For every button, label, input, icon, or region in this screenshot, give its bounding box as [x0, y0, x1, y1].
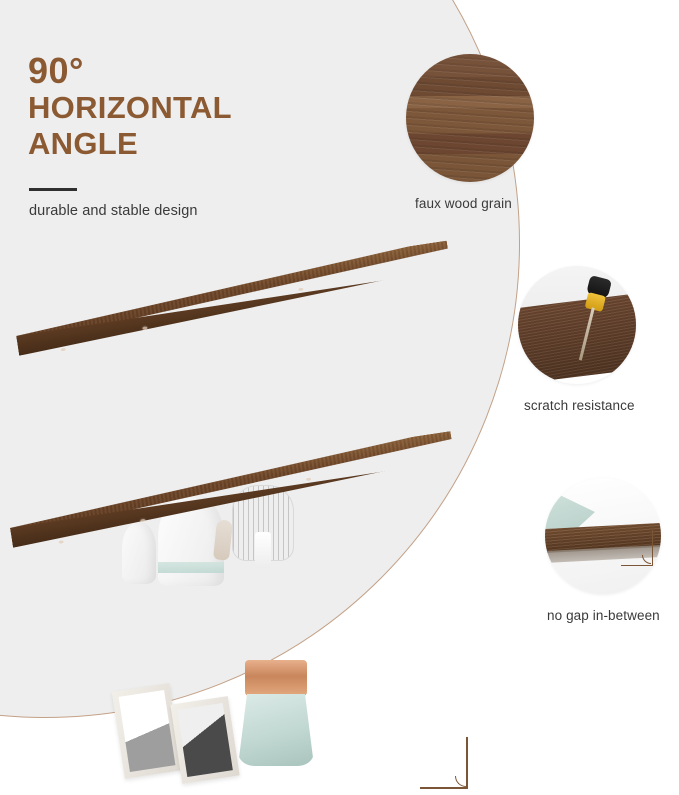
upper-shelf-front-edge — [16, 270, 454, 356]
shelf-screw — [306, 477, 311, 481]
frame-photo — [119, 690, 176, 772]
jug-mint-band — [158, 562, 224, 573]
picture-frame — [170, 696, 239, 784]
screwdriver-grip — [585, 292, 606, 312]
pillar-candle — [255, 532, 271, 568]
callout-no-gap-in-between: no gap in-between — [545, 478, 661, 594]
vase-copper-top — [245, 660, 307, 696]
angle-horizontal-line — [420, 787, 468, 789]
wood-grain-swatch-image — [406, 54, 534, 182]
shelf-screw — [61, 348, 66, 352]
screwdriver-shaft — [579, 307, 595, 360]
headline-line-1: HORIZONTAL — [28, 90, 328, 126]
product-scene — [0, 232, 492, 632]
infographic-canvas: 90° HORIZONTAL ANGLE durable and stable … — [0, 0, 679, 705]
callout-label-scratch-resistance: scratch resistance — [524, 398, 635, 413]
callout-label-no-gap-in-between: no gap in-between — [547, 608, 660, 623]
callout-label-faux-wood-grain: faux wood grain — [415, 196, 512, 211]
angle-horizontal-line — [621, 565, 653, 566]
headline-degree: 90° — [28, 52, 328, 90]
headline-line-2: ANGLE — [28, 126, 328, 162]
shelf-screw — [58, 540, 63, 544]
upper-shelf — [12, 241, 456, 364]
angle-vertical-line — [652, 530, 653, 566]
wood-grain-texture — [406, 54, 534, 182]
right-angle-marker-icon — [420, 737, 472, 795]
headline-block: 90° HORIZONTAL ANGLE — [28, 52, 328, 162]
frame-photo — [177, 703, 233, 777]
angle-arc — [642, 555, 651, 564]
callout-faux-wood-grain: faux wood grain — [406, 54, 534, 182]
shelf-screw — [142, 326, 147, 330]
shelf-screw — [140, 519, 145, 523]
headline-divider-rule — [29, 188, 77, 191]
callout-scratch-resistance: scratch resistance — [518, 266, 636, 384]
headline-subtitle: durable and stable design — [29, 203, 198, 219]
scratch-test-image — [518, 266, 636, 384]
angle-vertical-line — [466, 737, 468, 789]
no-gap-image — [545, 478, 661, 594]
shelf-screw — [298, 288, 303, 292]
right-angle-marker-icon — [619, 530, 653, 570]
angle-arc — [455, 776, 466, 787]
